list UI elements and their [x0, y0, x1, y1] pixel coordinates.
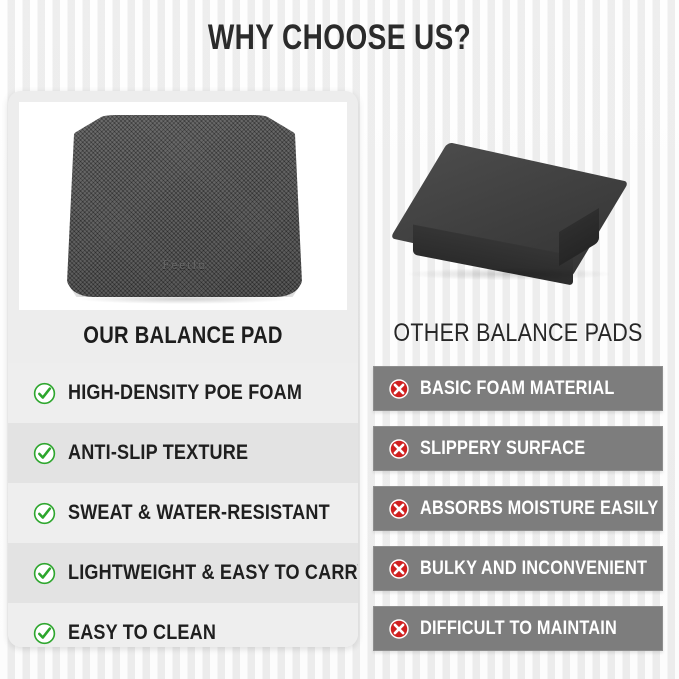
check-circle-icon: [33, 562, 56, 585]
list-item: SLIPPERY SURFACE: [373, 426, 663, 471]
list-item: SWEAT & WATER-RESISTANT: [8, 483, 358, 543]
check-circle-icon: [33, 622, 56, 645]
list-item-label: SLIPPERY SURFACE: [420, 438, 585, 460]
list-item: BASIC FOAM MATERIAL: [373, 366, 663, 411]
product-drop-shadow: [79, 294, 289, 304]
check-circle-icon: [33, 382, 56, 405]
other-product-header: OTHER BALANCE PADS: [393, 316, 642, 350]
list-item: ABSORBS MOISTURE EASILY: [373, 486, 663, 531]
list-item-label: EASY TO CLEAN: [68, 621, 216, 645]
list-item: HIGH-DENSITY POE FOAM: [8, 363, 358, 423]
balance-pad-image: Feetlu: [67, 115, 302, 297]
other-product-photo: [373, 100, 663, 300]
comparison-infographic: WHY CHOOSE US? Feetlu OUR BALANCE PAD HI…: [0, 0, 679, 679]
list-item-label: BASIC FOAM MATERIAL: [420, 378, 614, 400]
list-item: LIGHTWEIGHT & EASY TO CARRY: [8, 543, 358, 603]
our-product-feature-list: HIGH-DENSITY POE FOAM ANTI-SLIP TEXTURE …: [8, 363, 358, 647]
list-item: EASY TO CLEAN: [8, 603, 358, 647]
other-product-drop-shadow: [409, 268, 609, 280]
x-circle-icon: [388, 498, 410, 520]
list-item: ANTI-SLIP TEXTURE: [8, 423, 358, 483]
list-item-label: LIGHTWEIGHT & EASY TO CARRY: [68, 561, 358, 585]
our-product-photo: Feetlu: [19, 102, 347, 310]
list-item-label: HIGH-DENSITY POE FOAM: [68, 381, 302, 405]
product-brand-logo: Feetlu: [162, 257, 207, 273]
list-item: BULKY AND INCONVENIENT: [373, 546, 663, 591]
x-circle-icon: [388, 438, 410, 460]
x-circle-icon: [388, 378, 410, 400]
list-item-label: BULKY AND INCONVENIENT: [420, 558, 647, 580]
check-circle-icon: [33, 442, 56, 465]
list-item-label: DIFFICULT TO MAINTAIN: [420, 618, 617, 640]
list-item-label: SWEAT & WATER-RESISTANT: [68, 501, 330, 525]
list-item: DIFFICULT TO MAINTAIN: [373, 606, 663, 651]
list-item-label: ABSORBS MOISTURE EASILY: [420, 498, 659, 520]
other-product-drawback-list: BASIC FOAM MATERIAL SLIPPERY SURFACE ABS…: [373, 366, 663, 666]
x-circle-icon: [388, 618, 410, 640]
check-circle-icon: [33, 502, 56, 525]
list-item-label: ANTI-SLIP TEXTURE: [68, 441, 248, 465]
page-title: WHY CHOOSE US?: [68, 18, 611, 58]
our-product-card: Feetlu OUR BALANCE PAD HIGH-DENSITY POE …: [8, 91, 358, 647]
x-circle-icon: [388, 558, 410, 580]
our-product-header: OUR BALANCE PAD: [36, 315, 330, 357]
